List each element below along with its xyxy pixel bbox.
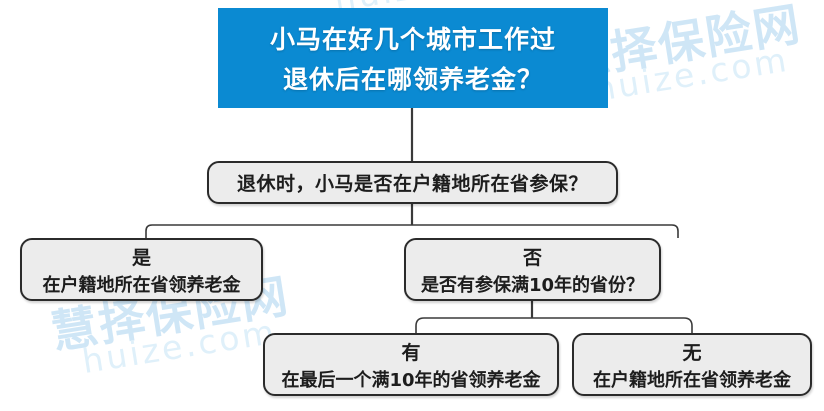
title-line-2: 退休后在哪领养老金？ [283, 60, 543, 96]
branch-no-detail: 是否有参保满10年的省份？ [421, 271, 644, 297]
node-branch-have: 有 在最后一个满10年的省领养老金 [263, 333, 559, 396]
branch-yes-detail: 在户籍地所在省领养老金 [43, 271, 241, 297]
branch-none-detail: 在户籍地所在省领养老金 [593, 366, 791, 392]
node-branch-yes: 是 在户籍地所在省领养老金 [20, 238, 263, 301]
branch-yes-label: 是 [132, 243, 151, 270]
title-line-1: 小马在好几个城市工作过 [270, 20, 556, 56]
branch-have-label: 有 [401, 338, 420, 365]
flowchart-canvas: 慧择保险网 huize.com 慧择保险网 huize.com 慧择保险网 hu… [0, 0, 824, 411]
node-question-residence: 退休时，小马是否在户籍地所在省参保？ [207, 161, 618, 204]
flowchart-title-node: 小马在好几个城市工作过 退休后在哪领养老金？ [218, 8, 608, 108]
branch-no-label: 否 [523, 243, 542, 270]
connector-no-split [416, 318, 692, 333]
branch-none-label: 无 [682, 338, 701, 365]
connector-question-split [146, 225, 678, 238]
node-branch-none: 无 在户籍地所在省领养老金 [572, 333, 812, 396]
branch-have-detail: 在最后一个满10年的省领养老金 [281, 366, 540, 392]
node-branch-no: 否 是否有参保满10年的省份？ [404, 238, 661, 301]
question-text: 退休时，小马是否在户籍地所在省参保？ [237, 169, 588, 196]
